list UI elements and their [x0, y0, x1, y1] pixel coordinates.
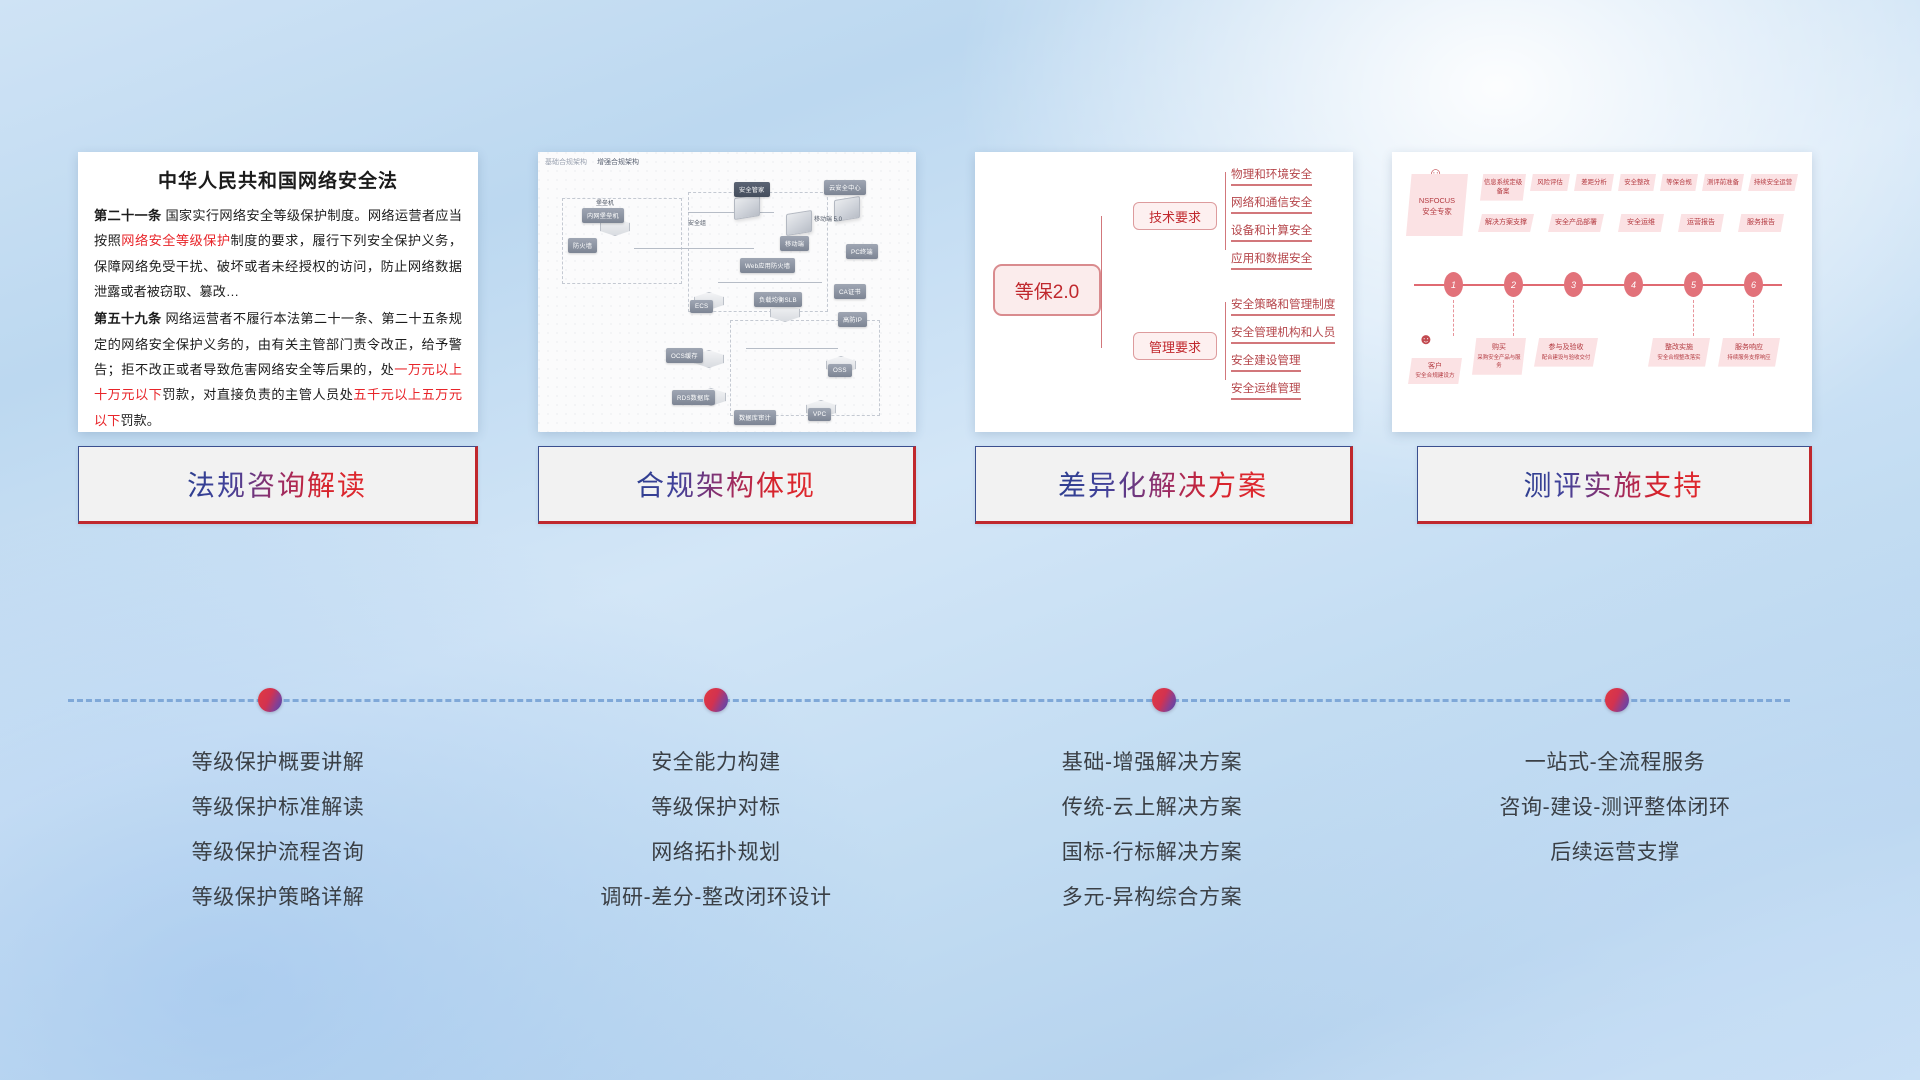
nsfocus-top-tag-0: 信息系统定级备案 [1480, 174, 1526, 201]
section-heading-label-1: 法规咨询解读 [187, 464, 367, 504]
nsfocus-brand: NSFOCUS [1406, 195, 1468, 206]
list-item: 咨询-建设-测评整体闭环 [1410, 785, 1820, 830]
mindmap-leaf-tech-2: 设备和计算安全 [1231, 222, 1312, 242]
law-article-21-highlight: 网络安全等级保护 [121, 233, 230, 248]
mindmap-leaf-tech-0: 物理和环境安全 [1231, 166, 1312, 186]
list-item: 等级保护策略详解 [78, 875, 478, 920]
nsfocus-bottom-tag-1: 参与及验收 配合建设与验收交付 [1534, 338, 1598, 367]
arch-node-1: 安全管家 [734, 182, 770, 197]
arch-node-15: 数据库审计 [734, 410, 776, 425]
list-item: 调研-差分-整改闭环设计 [516, 875, 916, 920]
nsfocus-bottom-sub-3: 持续服务支撑响应 [1721, 354, 1777, 362]
nsfocus-top-tag-3: 安全整改 [1618, 174, 1656, 191]
mindmap-card: 等保2.0 技术要求 物理和环境安全 网络和通信安全 设备和计算安全 应用和数据… [975, 152, 1353, 432]
list-item: 等级保护标准解读 [78, 785, 478, 830]
nsfocus-bottom-tag-3: 服务响应 持续服务支撑响应 [1718, 338, 1780, 367]
list-item: 等级保护概要讲解 [78, 740, 478, 785]
nsfocus-dash-1 [1453, 300, 1454, 336]
law-article-59-text-c: 罚款。 [120, 413, 160, 428]
arch-label-0: 堡垒机 [596, 198, 614, 207]
nsfocus-dash-2 [1513, 300, 1514, 336]
mindmap-leaf-mgmt-0: 安全策略和管理制度 [1231, 296, 1335, 316]
nsfocus-mid-tag-3: 运营报告 [1678, 214, 1724, 232]
law-article-59-text-b: 罚款，对直接负责的主管人员处 [162, 387, 353, 402]
mindmap-connector-root-tech [1101, 216, 1135, 292]
nsfocus-step-3: 3 [1564, 272, 1583, 297]
section-list-3: 基础-增强解决方案 传统-云上解决方案 国标-行标解决方案 多元-异构综合方案 [952, 740, 1352, 920]
arch-node-6: Web应用防火墙 [740, 258, 795, 273]
section-heading-box-2[interactable]: 合规架构体现 [538, 446, 916, 524]
law-excerpt-card: 中华人民共和国网络安全法 第二十一条 国家实行网络安全等级保护制度。网络运营者应… [78, 152, 478, 432]
nsfocus-timeline-card: ☺ NSFOCUS 安全专家 信息系统定级备案 风险评估 差距分析 安全整改 等… [1392, 152, 1812, 432]
nsfocus-bottom-title-0: 购买 [1475, 343, 1523, 354]
list-item: 基础-增强解决方案 [952, 740, 1352, 785]
architecture-tabs: 基础合规架构 增强合规架构 [545, 157, 639, 167]
arch-node-9: 负载均衡SLB [754, 292, 802, 307]
arch-node-8: 高防IP [838, 312, 867, 327]
timeline-dashed-line [68, 699, 1790, 702]
architecture-diagram-card: 基础合规架构 增强合规架构 内网堡垒机 安全 [538, 152, 916, 432]
nsfocus-top-tag-4: 等保合规 [1660, 174, 1698, 191]
law-article-59: 第五十九条 网络运营者不履行本法第二十一条、第二十五条规定的网络安全保护义务的，… [94, 306, 462, 432]
nsfocus-top-tag-5: 测评前准备 [1702, 174, 1744, 191]
law-article-59-label: 第五十九条 [94, 311, 161, 326]
nsfocus-expert-role: 安全专家 [1406, 206, 1468, 217]
nsfocus-bottom-title-1: 参与及验收 [1537, 343, 1595, 354]
nsfocus-customer-title: 客户 [1410, 362, 1460, 372]
arch-line-4 [688, 212, 774, 213]
list-item: 网络拓扑规划 [516, 830, 916, 875]
nsfocus-customer-sub: 安全合规建设方 [1410, 372, 1460, 380]
section-heading-box-1[interactable]: 法规咨询解读 [78, 446, 478, 524]
section-list-4: 一站式-全流程服务 咨询-建设-测评整体闭环 后续运营支撑 [1410, 740, 1820, 875]
arch-line-2 [718, 282, 822, 283]
tab-enhanced-architecture[interactable]: 增强合规架构 [597, 157, 639, 167]
mindmap-canvas: 等保2.0 技术要求 物理和环境安全 网络和通信安全 设备和计算安全 应用和数据… [975, 152, 1353, 432]
timeline-dot-4[interactable] [1605, 688, 1629, 712]
law-article-21: 第二十一条 国家实行网络安全等级保护制度。网络运营者应当按照网络安全等级保护制度… [94, 203, 462, 304]
mindmap-branch-management: 管理要求 [1133, 332, 1217, 360]
arch-node-14: VPC [808, 408, 831, 421]
section-list-2: 安全能力构建 等级保护对标 网络拓扑规划 调研-差分-整改闭环设计 [516, 740, 916, 920]
arch-server-icon-2 [786, 210, 812, 236]
nsfocus-axis-line [1414, 284, 1782, 286]
section-list-1: 等级保护概要讲解 等级保护标准解读 等级保护流程咨询 等级保护策略详解 [78, 740, 478, 920]
mindmap-leaf-tech-3: 应用和数据安全 [1231, 250, 1312, 270]
nsfocus-top-tag-1: 风险评估 [1530, 174, 1570, 191]
customer-person-icon: ☻ [1418, 332, 1434, 347]
arch-node-2: 云安全中心 [824, 180, 866, 195]
nsfocus-mid-tag-0: 解决方案支撑 [1478, 214, 1534, 232]
nsfocus-bottom-tag-2: 整改实施 安全合规整改落实 [1648, 338, 1710, 367]
arch-label-2: 移动端 5.0 [814, 214, 842, 223]
mindmap-root-node: 等保2.0 [993, 264, 1101, 316]
section-heading-label-3: 差异化解决方案 [1058, 464, 1268, 504]
arch-line-1 [634, 248, 754, 249]
nsfocus-customer-tag: 客户 安全合规建设方 [1408, 358, 1462, 384]
mindmap-spine-management [1225, 302, 1226, 380]
list-item: 后续运营支撑 [1410, 830, 1820, 875]
timeline-dot-2[interactable] [704, 688, 728, 712]
nsfocus-mid-tag-2: 安全运维 [1618, 214, 1664, 232]
nsfocus-bottom-sub-2: 安全合规整改落实 [1651, 354, 1707, 362]
arch-node-7: CA证书 [834, 284, 866, 299]
nsfocus-top-tag-6: 持续安全运营 [1748, 174, 1798, 191]
nsfocus-bottom-sub-1: 配合建设与验收交付 [1537, 354, 1595, 362]
arch-node-0: 内网堡垒机 [582, 208, 624, 223]
nsfocus-bottom-title-2: 整改实施 [1651, 343, 1707, 354]
architecture-canvas: 基础合规架构 增强合规架构 内网堡垒机 安全 [538, 152, 916, 432]
list-item: 多元-异构综合方案 [952, 875, 1352, 920]
mindmap-leaf-mgmt-2: 安全建设管理 [1231, 352, 1301, 372]
law-title: 中华人民共和国网络安全法 [94, 166, 462, 193]
section-heading-box-3[interactable]: 差异化解决方案 [975, 446, 1353, 524]
list-item: 国标-行标解决方案 [952, 830, 1352, 875]
list-item: 等级保护对标 [516, 785, 916, 830]
nsfocus-expert-tag: NSFOCUS 安全专家 [1406, 174, 1468, 236]
nsfocus-step-5: 5 [1684, 272, 1703, 297]
nsfocus-canvas: ☺ NSFOCUS 安全专家 信息系统定级备案 风险评估 差距分析 安全整改 等… [1392, 152, 1812, 432]
tab-basic-architecture[interactable]: 基础合规架构 [545, 157, 587, 167]
timeline-dot-1[interactable] [258, 688, 282, 712]
arch-node-11: OCS缓存 [666, 348, 703, 363]
section-headings-row: 法规咨询解读 合规架构体现 差异化解决方案 测评实施支持 [0, 446, 1920, 524]
mindmap-leaf-mgmt-3: 安全运维管理 [1231, 380, 1301, 400]
list-item: 传统-云上解决方案 [952, 785, 1352, 830]
mindmap-leaf-tech-1: 网络和通信安全 [1231, 194, 1312, 214]
mindmap-branch-technical: 技术要求 [1133, 202, 1217, 230]
nsfocus-dash-4 [1753, 300, 1754, 336]
list-item: 等级保护流程咨询 [78, 830, 478, 875]
nsfocus-step-4: 4 [1624, 272, 1643, 297]
arch-node-10: ECS [690, 300, 713, 313]
list-item: 一站式-全流程服务 [1410, 740, 1820, 785]
nsfocus-mid-tag-1: 安全产品部署 [1548, 214, 1604, 232]
arch-node-4: PC终端 [846, 244, 878, 259]
arch-group-bottom [730, 320, 880, 416]
timeline-dot-3[interactable] [1152, 688, 1176, 712]
arch-node-12: RDS数据库 [672, 390, 715, 405]
nsfocus-bottom-title-3: 服务响应 [1721, 343, 1777, 354]
mindmap-leaf-mgmt-1: 安全管理机构和人员 [1231, 324, 1335, 344]
arch-line-3 [746, 348, 838, 349]
nsfocus-mid-tag-4: 服务报告 [1738, 214, 1784, 232]
list-item: 安全能力构建 [516, 740, 916, 785]
nsfocus-bottom-sub-0: 采购安全产品与服务 [1475, 354, 1523, 370]
law-article-21-label: 第二十一条 [94, 208, 161, 223]
mindmap-connector-root-mgmt [1101, 290, 1135, 348]
section-heading-box-4[interactable]: 测评实施支持 [1417, 446, 1812, 524]
arch-server-icon-1 [734, 194, 760, 220]
mindmap-spine-technical [1225, 172, 1226, 250]
arch-node-5: 移动端 [780, 236, 809, 251]
arch-node-13: OSS [828, 364, 852, 377]
nsfocus-bottom-tag-0: 购买 采购安全产品与服务 [1472, 338, 1526, 375]
timeline-track [0, 688, 1920, 712]
section-heading-label-2: 合规架构体现 [636, 464, 816, 504]
nsfocus-step-2: 2 [1504, 272, 1523, 297]
nsfocus-top-tag-2: 差距分析 [1574, 174, 1614, 191]
nsfocus-step-1: 1 [1444, 272, 1463, 297]
nsfocus-step-6: 6 [1744, 272, 1763, 297]
section-heading-label-4: 测评实施支持 [1523, 464, 1703, 504]
nsfocus-dash-3 [1693, 300, 1694, 336]
arch-label-1: 安全组 [688, 218, 706, 227]
arch-node-3: 防火墙 [568, 238, 597, 253]
